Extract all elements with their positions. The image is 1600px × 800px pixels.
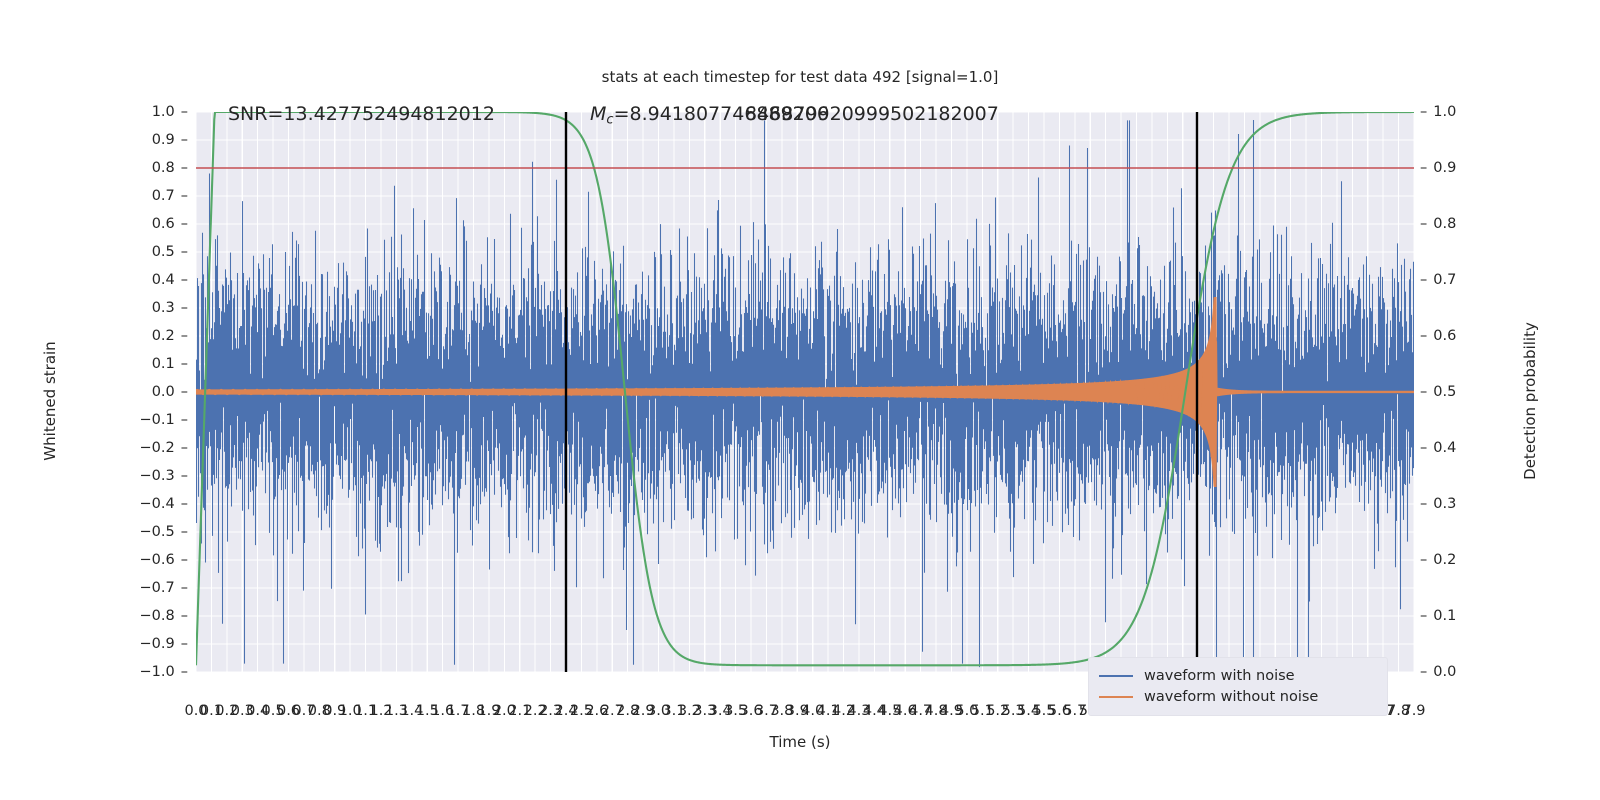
legend-label: waveform without noise [1144, 689, 1318, 705]
figure-canvas: stats at each timestep for test data 492… [0, 0, 1600, 800]
y-tick-left: 0.0– [98, 384, 188, 400]
legend-swatch-line [1099, 675, 1133, 677]
y-tick-left: 1.0– [98, 104, 188, 120]
y-tick-right: –0.2 [1420, 552, 1510, 568]
y-tick-left: −0.8– [98, 608, 188, 624]
y-tick-right: –0.1 [1420, 608, 1510, 624]
y-tick-right: –0.3 [1420, 496, 1510, 512]
y-tick-left: 0.1– [98, 356, 188, 372]
y-tick-left: −0.7– [98, 580, 188, 596]
y-tick-right: –0.8 [1420, 216, 1510, 232]
y-tick-right: –1.0 [1420, 104, 1510, 120]
y-tick-left: −0.1– [98, 412, 188, 428]
y-tick-left: 0.9– [98, 132, 188, 148]
y-tick-left: 0.6– [98, 216, 188, 232]
x-tick: 7.9 [1402, 703, 1425, 719]
legend-item-waveform-with-noise[interactable]: waveform with noise [1099, 665, 1377, 686]
y-tick-left: 0.3– [98, 300, 188, 316]
overlap-annotation: 846879920999502182007 [745, 103, 999, 125]
y-tick-right: –0.9 [1420, 160, 1510, 176]
chirp-mass-subscript: c [606, 112, 613, 127]
y-tick-right: –0.0 [1420, 664, 1510, 680]
y-tick-right: –0.5 [1420, 384, 1510, 400]
snr-annotation: SNR=13.427752494812012 [228, 103, 495, 125]
y-tick-left: 0.8– [98, 160, 188, 176]
y-tick-left: −0.2– [98, 440, 188, 456]
chirp-mass-symbol: M [590, 103, 606, 125]
y-axis-right-label: Detection probability [1521, 271, 1539, 531]
x-axis-label: Time (s) [0, 733, 1600, 751]
plot-svg [196, 112, 1414, 672]
y-tick-left: −0.6– [98, 552, 188, 568]
y-axis-left-label: Whitened strain [41, 291, 59, 511]
y-tick-right: –0.6 [1420, 328, 1510, 344]
page-title: stats at each timestep for test data 492… [0, 68, 1600, 86]
y-tick-left: 0.2– [98, 328, 188, 344]
y-tick-left: 0.4– [98, 272, 188, 288]
y-tick-left: 0.7– [98, 188, 188, 204]
y-tick-right: –0.4 [1420, 440, 1510, 456]
legend: waveform with noise waveform without noi… [1088, 657, 1388, 716]
y-tick-left: 0.5– [98, 244, 188, 260]
y-tick-left: −0.9– [98, 636, 188, 652]
plot-area [196, 112, 1414, 672]
legend-label: waveform with noise [1144, 668, 1295, 684]
y-tick-left: −0.4– [98, 496, 188, 512]
y-tick-left: −1.0– [98, 664, 188, 680]
legend-swatch-line [1099, 696, 1133, 698]
y-tick-left: −0.3– [98, 468, 188, 484]
y-tick-left: −0.5– [98, 524, 188, 540]
y-tick-right: –0.7 [1420, 272, 1510, 288]
legend-item-waveform-without-noise[interactable]: waveform without noise [1099, 686, 1377, 707]
